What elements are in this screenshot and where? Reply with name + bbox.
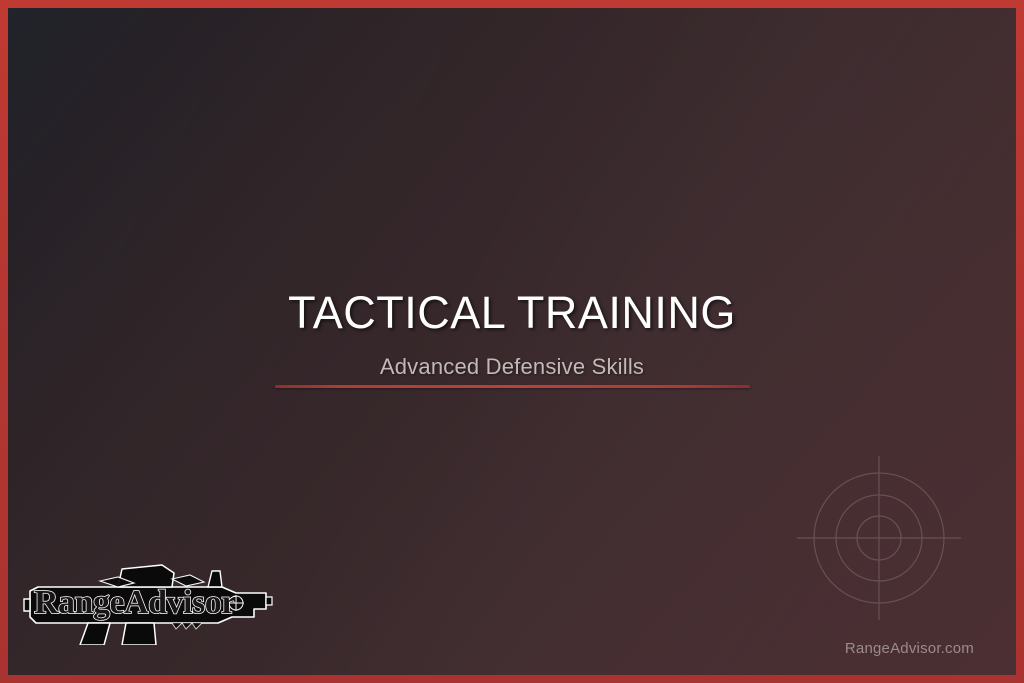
page-subtitle: Advanced Defensive Skills (8, 352, 1016, 382)
logo-wordmark: RangeAdvisor (34, 584, 236, 621)
brand-logo: RangeAdvisor (22, 559, 274, 645)
accent-divider (275, 385, 750, 388)
slide-canvas: TACTICAL TRAINING Advanced Defensive Ski… (8, 8, 1016, 675)
page-title: TACTICAL TRAINING (8, 286, 1016, 340)
presentation-slide: TACTICAL TRAINING Advanced Defensive Ski… (0, 0, 1024, 683)
footer-website-url: RangeAdvisor.com (845, 640, 974, 657)
crosshair-target-icon (796, 455, 962, 621)
